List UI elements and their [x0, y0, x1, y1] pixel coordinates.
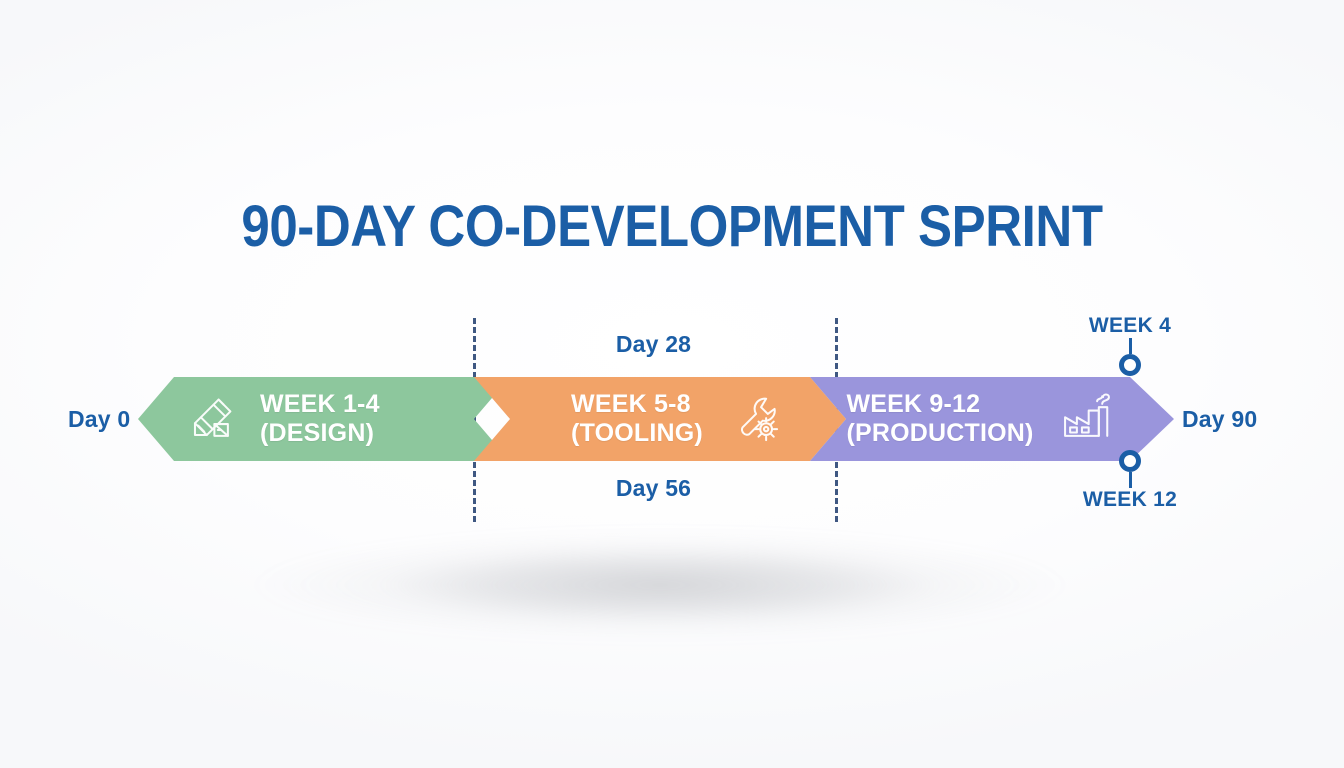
segment-label-production: WEEK 9-12 (PRODUCTION) [846, 390, 1033, 448]
infographic-canvas: 90-DAY CO-DEVELOPMENT SPRINT [0, 0, 1344, 768]
timeline-segment-design[interactable]: WEEK 1-4 (DESIGN) [138, 377, 510, 461]
milestone-dot-week-4[interactable] [1119, 354, 1141, 376]
factory-icon [1060, 392, 1114, 446]
milestone-week-4[interactable]: WEEK 4 [1040, 314, 1220, 376]
page-title: 90-DAY CO-DEVELOPMENT SPRINT [81, 196, 1264, 258]
timeline-segment-tooling[interactable]: WEEK 5-8 (TOOLING) [474, 377, 846, 461]
milestone-label-week-4: WEEK 4 [1089, 314, 1171, 338]
segment-label-design: WEEK 1-4 (DESIGN) [260, 390, 380, 448]
segment-label-tooling: WEEK 5-8 (TOOLING) [571, 390, 703, 448]
timeline-shadow [250, 530, 1070, 640]
pencil-ruler-icon [184, 392, 238, 446]
milestone-label-week-12: WEEK 12 [1083, 488, 1177, 512]
day-label-start: Day 0 [68, 406, 130, 433]
timeline-segment-production[interactable]: WEEK 9-12 (PRODUCTION) [810, 377, 1174, 461]
milestone-stem-week-4 [1129, 338, 1132, 354]
milestone-week-12[interactable]: WEEK 12 [1040, 450, 1220, 512]
milestone-stem-week-12 [1129, 472, 1132, 488]
milestone-dot-week-12[interactable] [1119, 450, 1141, 472]
wrench-gear-icon [729, 392, 783, 446]
timeline-bar: WEEK 1-4 (DESIGN) WEEK 5-8 (TOOLING) [138, 377, 1174, 461]
day-label-end: Day 90 [1182, 406, 1257, 433]
